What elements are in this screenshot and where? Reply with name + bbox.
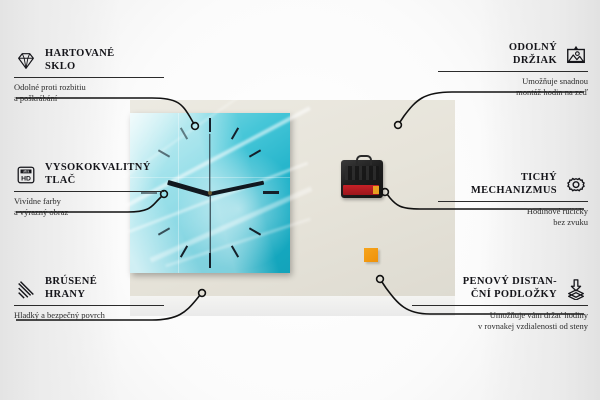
- clock-mechanism: [341, 160, 383, 198]
- divider: [438, 71, 588, 72]
- clock-tick: [209, 118, 211, 132]
- feature-header: HARTOVANÉ SKLO: [14, 48, 164, 73]
- divider: [14, 77, 164, 78]
- feature-desc-line2: a poškrábání: [14, 93, 164, 104]
- glass-seam-vertical: [178, 113, 179, 273]
- second-hand: [209, 194, 210, 256]
- infographic-stage: HARTOVANÉ SKLO Odolné proti rozbitiu a p…: [0, 0, 600, 400]
- floor-strip: [130, 296, 455, 316]
- hour-hand: [167, 180, 211, 197]
- feature-desc-line2: a výrazný obraz: [14, 207, 164, 218]
- feature-desc-line1: Odolné proti rozbitiu: [14, 82, 164, 93]
- feature-title: VYSOKOKVALITNÝ TLAČ: [45, 162, 151, 187]
- feature-desc-line1: Hodinové ručičky: [438, 206, 588, 217]
- feature-durable-hanger[interactable]: ODOLNÝ DRŽIAK Umožňuje snadnou montáž ho…: [438, 42, 588, 98]
- feature-desc-line1: Hladký a bezpečný povrch: [14, 310, 164, 321]
- feature-desc-line1: Umožňuje snadnou: [438, 76, 588, 87]
- divider: [14, 191, 164, 192]
- feature-title: PENOVÝ DISTAN- ČNÍ PODLOŽKY: [463, 276, 557, 301]
- divider: [438, 201, 588, 202]
- ground-edges-icon: [14, 278, 38, 300]
- foam-spacer-pad: [364, 248, 378, 262]
- feature-header: ODOLNÝ DRŽIAK: [438, 42, 588, 67]
- feature-header: BRÚSENÉ HRANY: [14, 276, 164, 301]
- feature-title: HARTOVANÉ SKLO: [45, 48, 115, 73]
- mechanism-body-detail: [345, 166, 379, 180]
- feature-desc-line2: montáž hodin na zeď: [438, 87, 588, 98]
- feature-ground-edges[interactable]: BRÚSENÉ HRANY Hladký a bezpečný povrch: [14, 276, 164, 321]
- feature-desc-line2: bez zvuku: [438, 217, 588, 228]
- feature-silent-mechanism[interactable]: TICHÝ MECHANIZMUS Hodinové ručičky bez z…: [438, 172, 588, 228]
- diamond-icon: [14, 50, 38, 72]
- feature-title: ODOLNÝ DRŽIAK: [509, 42, 557, 67]
- feature-header: TICHÝ MECHANIZMUS: [438, 172, 588, 197]
- clock-center-pin: [208, 191, 212, 195]
- feature-foam-spacers[interactable]: PENOVÝ DISTAN- ČNÍ PODLOŽKY Umožňuje vám…: [412, 276, 588, 332]
- second-hand-tail: [209, 134, 210, 194]
- feature-desc-line2: v rovnakej vzdialenosti od steny: [412, 321, 588, 332]
- mechanism-hanger: [356, 155, 372, 165]
- ultra-hd-icon: ultra HD: [14, 164, 38, 186]
- clock-tick: [249, 149, 261, 157]
- svg-text:ultra: ultra: [23, 169, 30, 173]
- clock-tick: [231, 127, 239, 139]
- minute-hand: [210, 181, 265, 196]
- divider: [14, 305, 164, 306]
- clock-tick: [158, 227, 170, 235]
- feature-header: ultra HD VYSOKOKVALITNÝ TLAČ: [14, 162, 164, 187]
- foam-spacer-icon: [564, 278, 588, 300]
- feature-high-quality-print[interactable]: ultra HD VYSOKOKVALITNÝ TLAČ Vivídne far…: [14, 162, 164, 218]
- battery: [343, 185, 379, 195]
- gear-icon: [564, 174, 588, 196]
- clock-tick: [263, 191, 279, 194]
- svg-text:HD: HD: [21, 175, 31, 182]
- picture-hanger-icon: [564, 44, 588, 66]
- feature-hardened-glass[interactable]: HARTOVANÉ SKLO Odolné proti rozbitiu a p…: [14, 48, 164, 104]
- divider: [412, 305, 588, 306]
- feature-title: TICHÝ MECHANIZMUS: [471, 172, 557, 197]
- clock-tick: [231, 245, 239, 257]
- feature-header: PENOVÝ DISTAN- ČNÍ PODLOŽKY: [412, 276, 588, 301]
- feature-desc-line1: Umožňuje vám držať hodiny: [412, 310, 588, 321]
- feature-desc-line1: Vivídne farby: [14, 196, 164, 207]
- feature-title: BRÚSENÉ HRANY: [45, 276, 97, 301]
